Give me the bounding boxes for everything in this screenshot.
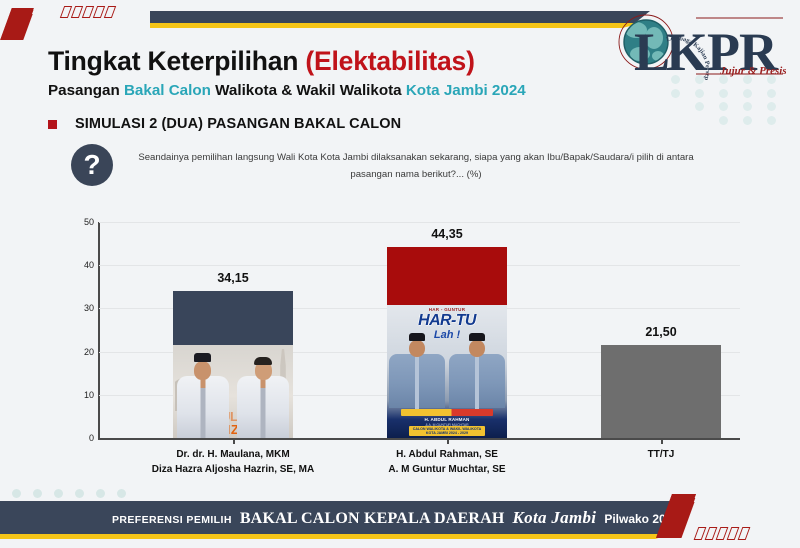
- y-axis-tick: 20: [60, 347, 94, 357]
- subtitle-highlight-2: Kota Jambi 2024: [406, 82, 526, 99]
- bar-chart: 50 40 30 20 10 0 34,15: [60, 212, 740, 448]
- bar-rect[interactable]: MAULANA DIZA: [173, 291, 293, 438]
- x-label-line2: Diza Hazra Aljosha Hazrin, SE, MA: [133, 463, 333, 478]
- dot: [767, 89, 776, 98]
- square-bullet-icon: [48, 120, 57, 129]
- dot: [12, 489, 21, 498]
- question-mark-icon: ?: [71, 144, 113, 186]
- dot: [96, 489, 105, 498]
- bar-value-label: 21,50: [601, 325, 721, 339]
- jacket-shape: [389, 354, 444, 408]
- poster-slogan: HAR-TU: [387, 313, 507, 329]
- bar-value-label: 34,15: [173, 271, 293, 285]
- shirt-shape: [237, 376, 290, 438]
- poster-badge: CALON WALIKOTA & WAKIL WALIKOTA KOTA JAM…: [409, 426, 486, 436]
- subtitle-part1: Pasangan: [48, 82, 124, 99]
- candidate-figure-diza: [237, 357, 290, 438]
- svg-text:L: L: [634, 22, 669, 80]
- face-shape: [194, 361, 211, 380]
- decorative-dot-grid: [664, 74, 782, 126]
- dot: [767, 116, 776, 125]
- dot: [719, 89, 728, 98]
- dot: [117, 489, 126, 498]
- dot: [767, 102, 776, 111]
- songkok-icon: [409, 333, 425, 341]
- x-label-line1: Dr. dr. H. Maulana, MKM: [133, 448, 333, 463]
- dot: [719, 116, 728, 125]
- x-label-line1: TT/TJ: [561, 448, 761, 463]
- survey-question-text: Seandainya pemilihan langsung Wali Kota …: [136, 150, 696, 184]
- dot: [719, 102, 728, 111]
- header-yellow-bar: [150, 23, 642, 28]
- dot: [75, 489, 84, 498]
- candidate-poster-hartu: HAR - GUNTUR HAR-TU Lah ! H. ABDUL RAHMA…: [387, 305, 507, 438]
- lkpr-logo: Lembaga Kajian Persepsi Regional L KPR J…: [600, 8, 786, 80]
- x-axis-line: [98, 438, 740, 440]
- x-axis-tick: [233, 439, 235, 444]
- candidate-figure-rahman: [389, 333, 444, 408]
- dot: [54, 489, 63, 498]
- dot: [743, 89, 752, 98]
- songkok-icon: [469, 333, 485, 341]
- x-label-line1: H. Abdul Rahman, SE: [347, 448, 547, 463]
- bar-value-label: 44,35: [387, 227, 507, 241]
- poster-ribbon: [401, 409, 492, 416]
- svg-text:Jujur & Presisi: Jujur & Presisi: [719, 65, 786, 77]
- subtitle-part3: Walikota & Wakil Walikota: [211, 82, 406, 99]
- hair-shape: [254, 357, 272, 365]
- y-axis-tick: 0: [60, 433, 94, 443]
- y-axis-line: [98, 222, 100, 438]
- page-title-part1: Tingkat Keterpilihan: [48, 46, 305, 76]
- bar-rect[interactable]: HAR - GUNTUR HAR-TU Lah ! H. ABDUL RAHMA…: [387, 247, 507, 438]
- x-axis-tick: [447, 439, 449, 444]
- footer-part3: Kota Jambi: [513, 508, 597, 528]
- x-axis-tick: [661, 439, 663, 444]
- y-axis-tick: 10: [60, 390, 94, 400]
- top-left-outline-ticks: [62, 6, 114, 18]
- dot: [671, 89, 680, 98]
- subtitle-highlight-1: Bakal Calon: [124, 82, 211, 99]
- footer-outline-ticks: [696, 527, 748, 540]
- footer-part2: BAKAL CALON KEPALA DAERAH: [240, 510, 505, 528]
- face-shape: [469, 340, 485, 357]
- jacket-shape: [449, 354, 504, 408]
- face-shape: [409, 340, 425, 357]
- x-axis-label-maulana-diza: Dr. dr. H. Maulana, MKM Diza Hazra Aljos…: [133, 448, 333, 477]
- x-axis-label-tttj: TT/TJ: [561, 448, 761, 463]
- footer-dot-decor: [12, 489, 126, 498]
- dot: [695, 102, 704, 111]
- footer-banner: PREFERENSI PEMILIH BAKAL CALON KEPALA DA…: [0, 501, 690, 534]
- bar-rect[interactable]: [601, 345, 721, 438]
- bar-group-maulana-diza[interactable]: 34,15 MAULANA DIZA: [173, 291, 293, 438]
- dot: [695, 89, 704, 98]
- y-axis-tick: 40: [60, 260, 94, 270]
- footer-yellow-bar: [0, 534, 672, 539]
- dot: [743, 116, 752, 125]
- dot: [743, 102, 752, 111]
- songkok-icon: [194, 353, 211, 362]
- header-navy-bar: [150, 11, 650, 23]
- bar-group-rahman-guntur[interactable]: 44,35 HAR - GUNTUR HAR-TU Lah ! H.: [387, 247, 507, 438]
- bar-group-tttj[interactable]: 21,50: [601, 345, 721, 438]
- simulation-heading-row: SIMULASI 2 (DUA) PASANGAN BAKAL CALON: [48, 116, 401, 132]
- gridline: [99, 222, 740, 223]
- y-axis-tick: 50: [60, 217, 94, 227]
- page-subtitle: Pasangan Bakal Calon Walikota & Wakil Wa…: [48, 82, 526, 99]
- page-title: Tingkat Keterpilihan (Elektabilitas): [48, 46, 475, 77]
- x-axis-label-rahman-guntur: H. Abdul Rahman, SE A. M Guntur Muchtar,…: [347, 448, 547, 477]
- candidate-figure-guntur: [449, 333, 504, 408]
- y-axis-tick: 30: [60, 303, 94, 313]
- simulation-heading: SIMULASI 2 (DUA) PASANGAN BAKAL CALON: [75, 116, 401, 132]
- dot: [33, 489, 42, 498]
- x-label-line2: A. M Guntur Muchtar, SE: [347, 463, 547, 478]
- footer-part1: PREFERENSI PEMILIH: [112, 514, 232, 526]
- shirt-shape: [177, 376, 230, 438]
- page-title-highlight: (Elektabilitas): [305, 46, 474, 76]
- candidate-figure-maulana: [177, 353, 230, 438]
- candidate-poster-maulana-diza: MAULANA DIZA: [173, 345, 293, 438]
- footer-text: PREFERENSI PEMILIH BAKAL CALON KEPALA DA…: [112, 508, 679, 528]
